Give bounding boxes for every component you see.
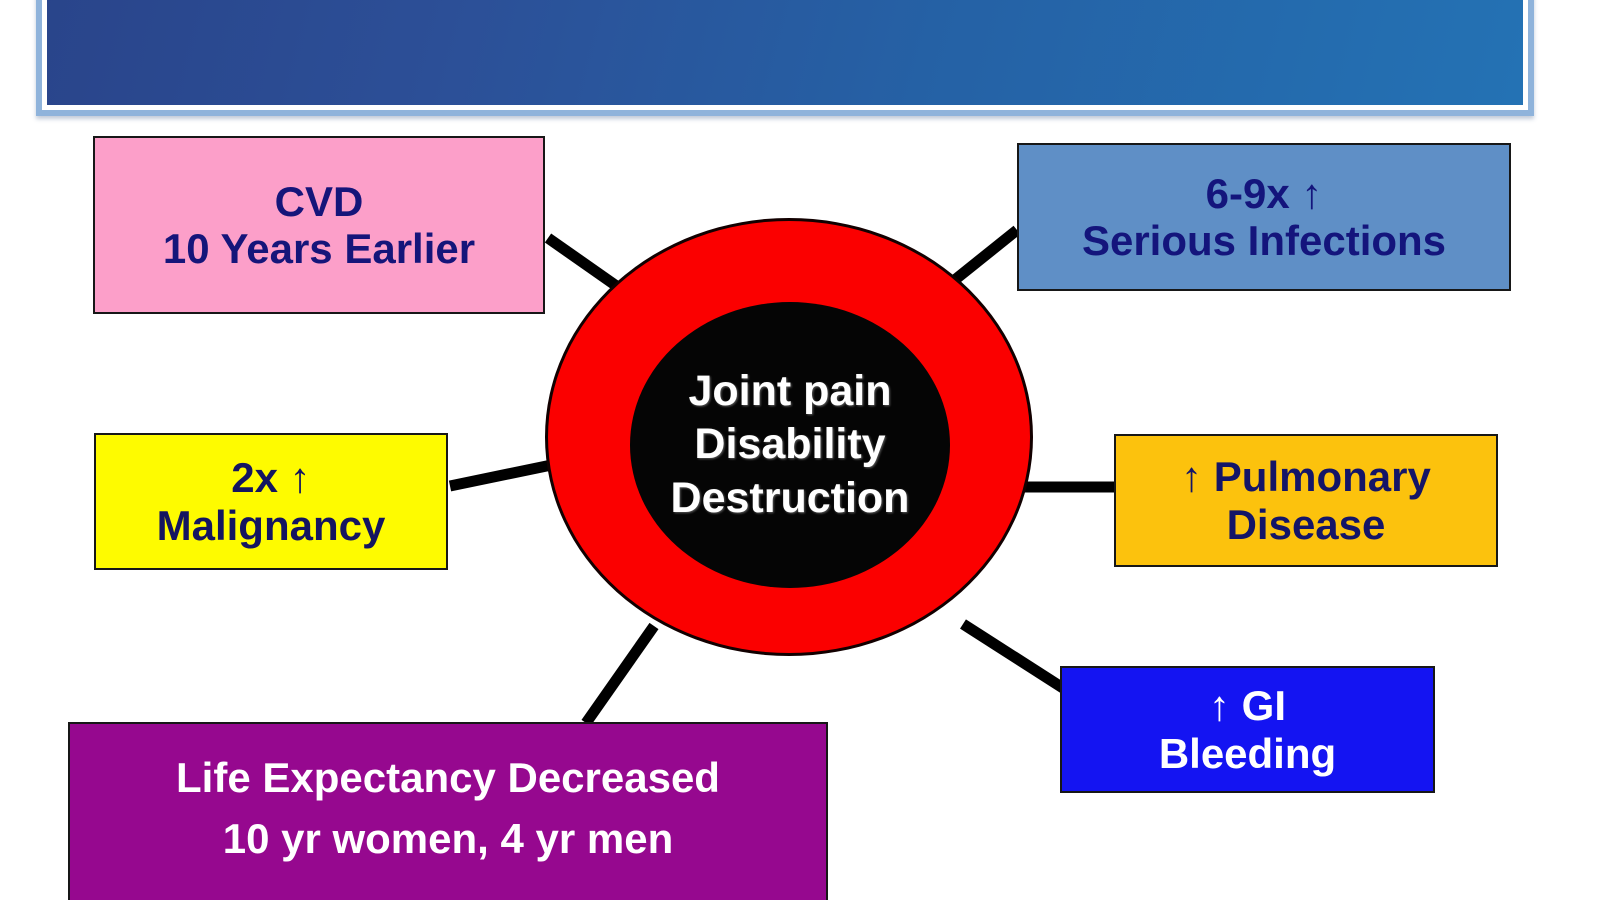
life-line-2: 10 yr women, 4 yr men xyxy=(223,815,674,862)
cvd-box[interactable]: CVD 10 Years Earlier xyxy=(93,136,545,314)
title-banner: RA: Not Just a Joint Disease xyxy=(36,0,1534,116)
hub-line-joint-pain: Joint pain xyxy=(688,365,891,418)
infections-line-1: 6-9x ↑ xyxy=(1206,170,1323,217)
page-title: RA: Not Just a Joint Disease xyxy=(247,0,1323,3)
slide-canvas: RA: Not Just a Joint Disease Joint pain … xyxy=(0,0,1600,900)
life-expectancy-box[interactable]: Life Expectancy Decreased 10 yr women, 4… xyxy=(68,722,828,900)
pulmonary-disease-box[interactable]: ↑ Pulmonary Disease xyxy=(1114,434,1498,567)
connector-hub-to-life xyxy=(586,626,654,723)
cvd-line-1: CVD xyxy=(275,178,364,225)
malignancy-line-2: Malignancy xyxy=(157,502,386,549)
pulmonary-line-2: Disease xyxy=(1227,501,1386,548)
malignancy-line-1: 2x ↑ xyxy=(231,454,310,501)
connector-hub-to-gi xyxy=(963,624,1066,690)
malignancy-box[interactable]: 2x ↑ Malignancy xyxy=(94,433,448,570)
title-banner-panel: RA: Not Just a Joint Disease xyxy=(47,0,1523,105)
hub-core: Joint pain Disability Destruction xyxy=(630,302,950,588)
cvd-line-2: 10 Years Earlier xyxy=(163,225,475,272)
life-line-1: Life Expectancy Decreased xyxy=(176,754,720,801)
gi-line-1: ↑ GI xyxy=(1209,682,1286,729)
serious-infections-box[interactable]: 6-9x ↑ Serious Infections xyxy=(1017,143,1511,291)
hub-line-destruction: Destruction xyxy=(671,472,910,525)
infections-line-2: Serious Infections xyxy=(1082,217,1446,264)
pulmonary-line-1: ↑ Pulmonary xyxy=(1181,453,1431,500)
gi-line-2: Bleeding xyxy=(1159,730,1336,777)
gi-bleeding-box[interactable]: ↑ GI Bleeding xyxy=(1060,666,1435,793)
title-banner-inner-border: RA: Not Just a Joint Disease xyxy=(42,0,1528,110)
hub-line-disability: Disability xyxy=(694,418,885,471)
